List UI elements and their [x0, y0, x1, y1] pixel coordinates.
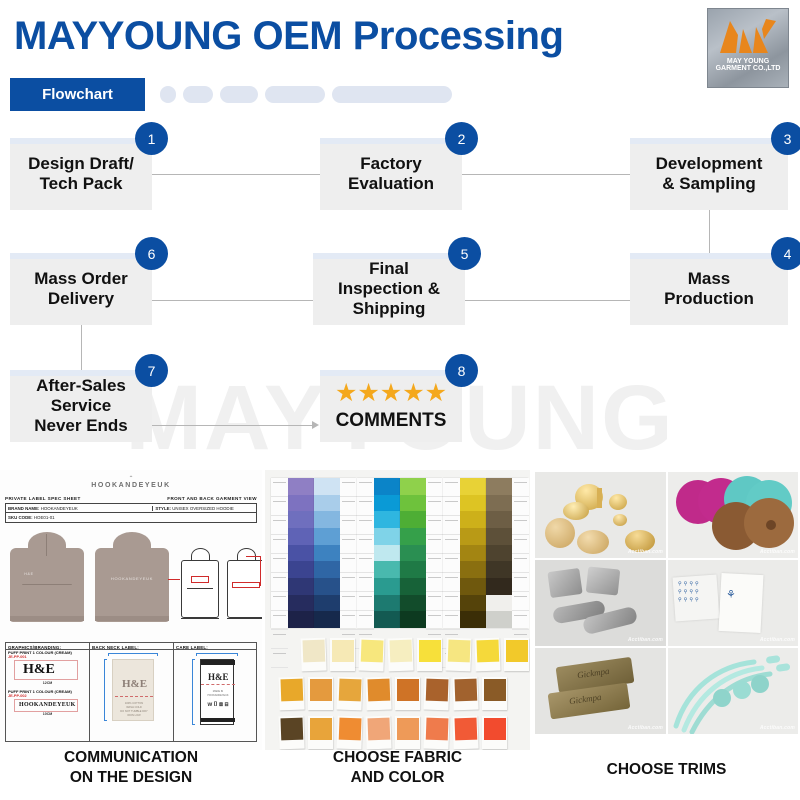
connector-3-4	[709, 210, 710, 253]
watermark-tag: Acctiban.com	[628, 637, 663, 643]
techpack-brandmark: ⌃ HOOKANDEYEUK	[0, 475, 262, 489]
techpack-field-style: STYLE: UNISEX OVERSIZED HOODIE	[153, 506, 256, 511]
swatch-cell	[288, 578, 314, 595]
techpack-brand-name: HOOKANDEYEUK	[0, 482, 262, 489]
swatch-cell	[288, 545, 314, 562]
decor-pill-3	[220, 86, 258, 103]
connector-7-8	[152, 425, 313, 426]
color-card-chip	[454, 717, 477, 740]
color-card-chip	[310, 679, 332, 701]
field-key: STYLE:	[155, 506, 171, 511]
techpack-header-left: PRIVATE LABEL SPEC SHEET	[5, 496, 81, 501]
swatch-cell	[400, 578, 426, 595]
reference-panels: ⌃ HOOKANDEYEUK PRIVATE LABEL SPEC SHEET …	[0, 470, 800, 755]
swatch-cell	[460, 611, 486, 628]
swatch-code-column	[340, 478, 357, 628]
swatch-color-strip	[288, 478, 314, 628]
col-heading: CARE LABEL:	[174, 643, 256, 650]
swatch-cell	[374, 578, 400, 595]
decor-pill-5	[332, 86, 452, 103]
page-title: MAYYOUNG OEM Processing	[14, 14, 563, 59]
swatch-cell	[314, 545, 340, 562]
flow-node-badge-8: 8	[445, 354, 478, 387]
swatch-cell	[400, 561, 426, 578]
node-top-bar	[10, 253, 152, 259]
infographic-page: MAYYOUNG MAYYOUNG OEM Processing MAY YOU…	[0, 0, 800, 800]
techpack-field-sku: SKU CODE: HOE01-01	[6, 515, 256, 520]
swatch-book-green	[400, 478, 442, 628]
panel-captions: COMMUNICATIONON THE DESIGNCHOOSE FABRICA…	[0, 748, 800, 800]
swatch-code-column	[426, 478, 443, 628]
techpack-info-table: BRAND NAME: HOOKANDEYEUK STYLE: UNISEX O…	[5, 503, 257, 523]
swatch-cell	[486, 578, 512, 595]
connector-1-2	[152, 174, 320, 175]
table-row: SKU CODE: HOE01-01	[6, 513, 256, 522]
swatch-cell	[374, 611, 400, 628]
color-card	[452, 677, 478, 711]
swatch-cell	[486, 511, 512, 528]
swatch-cell	[486, 611, 512, 628]
flow-node-label: MassProduction	[658, 269, 760, 309]
techpack-header-row: PRIVATE LABEL SPEC SHEET FRONT AND BACK …	[5, 496, 257, 501]
flow-node-badge-5: 5	[448, 237, 481, 270]
color-card	[330, 638, 355, 671]
swatch-cell	[486, 495, 512, 512]
connector-2-3	[462, 174, 630, 175]
swatch-cell	[314, 528, 340, 545]
color-card	[336, 677, 362, 711]
flow-node-badge-1: 1	[135, 122, 168, 155]
swatch-cell	[460, 561, 486, 578]
swatch-cell	[288, 561, 314, 578]
flow-node-5[interactable]: FinalInspection &Shipping	[313, 253, 465, 325]
color-card	[336, 716, 362, 750]
color-card	[308, 677, 333, 710]
color-card-chip	[360, 639, 383, 662]
swatch-cell	[460, 578, 486, 595]
swatch-cell	[460, 595, 486, 612]
color-card-chip	[425, 678, 448, 701]
flow-node-label: After-SalesServiceNever Ends	[28, 376, 134, 436]
flow-node-badge-3: 3	[771, 122, 800, 155]
swatch-cell	[374, 511, 400, 528]
color-card	[300, 638, 326, 672]
logo-text-line1: MAY YOUNG	[727, 58, 769, 65]
swatch-cell	[400, 545, 426, 562]
field-value: HOE01-01	[34, 515, 55, 520]
color-card	[417, 638, 442, 671]
decorative-pills	[160, 86, 452, 103]
flow-node-2[interactable]: FactoryEvaluation	[320, 138, 462, 210]
trim-zipper-pullers: Acctiban.com	[535, 560, 666, 646]
care-label-art: H&E	[208, 672, 229, 682]
graphic-art-2: HOOKANDEYEUK	[19, 702, 76, 708]
field-value: UNISEX OVERSIZED HOODIE	[172, 506, 233, 511]
connector-4-5	[465, 300, 630, 301]
flow-node-3[interactable]: Development& Sampling	[630, 138, 788, 210]
rating-stars: ★★★★★	[335, 381, 447, 406]
bird-icon: ⚘	[726, 588, 736, 601]
may-logo-icon	[716, 15, 780, 57]
field-value: HOOKANDEYEUK	[41, 506, 78, 511]
watermark-tag: Acctiban.com	[628, 549, 663, 555]
color-card	[423, 716, 449, 750]
color-card	[358, 638, 384, 672]
hoodie-back-render: HOOKANDEYEUK	[93, 532, 171, 628]
col-heading: BACK NECK LABEL:	[90, 643, 173, 650]
decor-pill-4	[265, 86, 325, 103]
swatch-cell	[288, 528, 314, 545]
color-card	[387, 638, 413, 672]
node-top-bar	[630, 138, 788, 144]
col-heading: GRAPHICS/BRANDING:	[6, 643, 89, 650]
swatch-book-brown	[486, 478, 528, 628]
swatch-cell	[486, 478, 512, 495]
swatch-cell	[486, 561, 512, 578]
swatch-cell	[314, 495, 340, 512]
header: MAYYOUNG OEM Processing MAY YOUNG GARMEN…	[0, 0, 800, 120]
swatch-cell	[288, 478, 314, 495]
flow-node-label: Design Draft/Tech Pack	[22, 154, 140, 194]
swatch-cell	[400, 611, 426, 628]
color-card	[365, 677, 391, 711]
color-card-chip	[367, 678, 390, 701]
flow-node-label: Development& Sampling	[650, 154, 769, 194]
color-card-chip	[454, 678, 477, 701]
neck-label-care-text: 100% COTTONWASH COLDDO NOT TUMBLE DRYIRO…	[115, 702, 153, 718]
care-label-symbols: w ⌷ ⊠ ⊟	[207, 702, 229, 709]
comments-label: COMMENTS	[335, 410, 447, 432]
swatch-code-column	[357, 478, 374, 628]
color-card-chip	[425, 717, 448, 740]
table-row: BRAND NAME: HOOKANDEYEUK STYLE: UNISEX O…	[6, 504, 256, 513]
flow-node-badge-7: 7	[135, 354, 168, 387]
hoodie-front-render: H&E	[8, 532, 86, 628]
trim-gold-snap-buttons: Acctiban.com	[535, 472, 666, 558]
swatch-book-cyan	[357, 478, 399, 628]
hoodie-back-print: HOOKANDEYEUK	[107, 576, 157, 581]
techpack-tick-icon: ⌃	[0, 475, 262, 482]
flow-node-badge-2: 2	[445, 122, 478, 155]
flow-node-label: FactoryEvaluation	[342, 154, 440, 194]
care-label-text: MADE INHOOKANDEYEUK	[203, 690, 233, 698]
swatch-cell	[400, 511, 426, 528]
swatch-cell	[400, 495, 426, 512]
neck-label-art: H&E	[122, 678, 147, 690]
node-top-bar	[630, 253, 788, 259]
graphic-code-1: JE-PP-001	[6, 655, 89, 659]
techpack-col-neck-label: BACK NECK LABEL: H&E 100% COTTONWASH COL…	[90, 643, 174, 741]
swatch-book-blue	[314, 478, 356, 628]
panel-caption-1: COMMUNICATIONON THE DESIGN	[0, 748, 262, 788]
swatch-cell	[374, 495, 400, 512]
swatch-color-strip	[460, 478, 486, 628]
swatch-book-yellow	[443, 478, 485, 628]
techpack-header-right: FRONT AND BACK GARMENT VIEW	[167, 496, 257, 501]
swatch-color-strip	[486, 478, 512, 628]
watermark-tag: Acctiban.com	[760, 637, 795, 643]
flow-node-label: Mass OrderDelivery	[28, 269, 134, 309]
swatch-cell	[314, 561, 340, 578]
swatch-cell	[288, 495, 314, 512]
color-card-chip	[367, 717, 390, 740]
flow-node-8[interactable]: ★★★★★COMMENTS	[320, 370, 462, 442]
connector-5-6	[152, 300, 313, 301]
color-card-chip	[389, 639, 412, 662]
panel-caption-3: CHOOSE TRIMS	[533, 760, 800, 780]
watermark-tag: Acctiban.com	[628, 725, 663, 731]
flow-node-label: FinalInspection &Shipping	[332, 259, 446, 319]
color-card-chip	[338, 678, 361, 701]
swatch-cell	[460, 528, 486, 545]
techpack-col-care-label: CARE LABEL: H&E MADE INHOOKANDEYEUK w ⌷ …	[174, 643, 256, 741]
flow-node-1[interactable]: Design Draft/Tech Pack	[10, 138, 152, 210]
neck-label-swatch: H&E 100% COTTONWASH COLDDO NOT TUMBLE DR…	[112, 659, 154, 721]
color-card	[278, 677, 304, 711]
flow-node-6[interactable]: Mass OrderDelivery	[10, 253, 152, 325]
color-card-chip	[506, 640, 528, 662]
color-card	[395, 677, 420, 710]
color-card-chip	[419, 640, 441, 662]
color-card-chip	[310, 718, 332, 740]
flowchart-badge: Flowchart	[10, 78, 145, 111]
swatch-color-strip	[400, 478, 426, 628]
panel-caption-2: CHOOSE FABRICAND COLOR	[265, 748, 530, 788]
color-card	[504, 638, 529, 671]
trim-leather-discs: Acctiban.com	[668, 472, 798, 558]
flow-node-badge-6: 6	[135, 237, 168, 270]
watermark-tag: Acctiban.com	[760, 725, 795, 731]
color-card	[308, 716, 333, 749]
drawcord-illustration	[668, 648, 798, 734]
flow-node-4[interactable]: MassProduction	[630, 253, 788, 325]
connector-6-7	[81, 325, 82, 370]
swatch-cell	[400, 478, 426, 495]
swatch-cell	[460, 511, 486, 528]
color-card	[474, 638, 500, 672]
swatch-cell	[374, 545, 400, 562]
node-top-bar	[320, 138, 462, 144]
color-card	[445, 638, 471, 672]
decor-pill-1	[160, 86, 176, 103]
logo-text-line2: GARMENT CO.,LTD	[716, 65, 781, 72]
color-card-chip	[484, 679, 506, 701]
color-card-chip	[332, 640, 354, 662]
swatch-cell	[314, 478, 340, 495]
swatch-cell	[288, 611, 314, 628]
color-card	[482, 716, 507, 749]
panel-trims: Acctiban.com Acctiban.com	[533, 470, 800, 750]
graphic-code-2: JE-PP-002	[6, 694, 89, 698]
care-label-swatch: H&E MADE INHOOKANDEYEUK w ⌷ ⊠ ⊟	[200, 659, 234, 725]
color-card-chip	[476, 639, 499, 662]
swatch-cell	[460, 545, 486, 562]
techpack-col-graphics: GRAPHICS/BRANDING: PUFF PRINT 1 COLOUR (…	[6, 643, 90, 741]
swatch-cell	[486, 528, 512, 545]
swatch-code-column	[443, 478, 460, 628]
swatch-cell	[400, 595, 426, 612]
techpack-detail-columns: GRAPHICS/BRANDING: PUFF PRINT 1 COLOUR (…	[5, 642, 257, 742]
trim-drawcords: Acctiban.com	[668, 648, 798, 734]
swatch-cell	[288, 511, 314, 528]
color-card	[365, 716, 391, 750]
swatch-cell	[460, 478, 486, 495]
graphic-size-2: 10CM	[6, 712, 89, 716]
swatch-cell	[314, 595, 340, 612]
swatch-book-purple	[271, 478, 313, 628]
panel-fabric-color	[265, 470, 530, 750]
color-card	[482, 677, 507, 710]
color-card	[452, 716, 478, 750]
hoodie-outline-front	[180, 548, 220, 628]
techpack-garment-views: H&E HOOKANDEYEUK	[0, 526, 262, 636]
node-top-bar	[10, 138, 152, 144]
swatch-cell	[374, 561, 400, 578]
color-card-chip	[302, 639, 325, 662]
panel-tech-pack: ⌃ HOOKANDEYEUK PRIVATE LABEL SPEC SHEET …	[0, 470, 262, 750]
color-card-chip	[447, 639, 470, 662]
graphic-size-1: 12CM	[6, 681, 89, 685]
swatch-cell	[288, 595, 314, 612]
swatch-color-strip	[374, 478, 400, 628]
color-card	[278, 716, 304, 750]
trim-metal-plates: Gickmpa Gickmpa Acctiban.com	[535, 648, 666, 734]
node-top-bar	[320, 370, 462, 376]
swatch-cell	[460, 495, 486, 512]
hoodie-outline-back	[226, 548, 262, 628]
swatch-cell	[314, 511, 340, 528]
swatch-cell	[374, 478, 400, 495]
company-logo: MAY YOUNG GARMENT CO.,LTD	[707, 8, 789, 88]
color-card-chip	[280, 717, 303, 740]
swatch-code-column	[271, 478, 288, 628]
trim-hang-tags: ⚘ ⚲⚲⚲⚲⚲⚲⚲⚲⚲⚲⚲⚲ Acctiban.com	[668, 560, 798, 646]
color-card-chip	[397, 718, 419, 740]
swatch-cell	[486, 545, 512, 562]
pin-grid-icon: ⚲⚲⚲⚲⚲⚲⚲⚲⚲⚲⚲⚲	[678, 580, 716, 614]
color-card	[395, 716, 420, 749]
color-card-chip	[484, 718, 506, 740]
graphic-art-1: H&E	[23, 662, 55, 678]
decor-pill-2	[183, 86, 213, 103]
field-key: SKU CODE:	[8, 515, 33, 520]
swatch-cell	[400, 528, 426, 545]
flow-node-7[interactable]: After-SalesServiceNever Ends	[10, 370, 152, 442]
swatch-cell	[486, 595, 512, 612]
swatch-code-column	[512, 478, 529, 628]
color-card-chip	[397, 679, 419, 701]
color-card	[423, 677, 449, 711]
swatch-cell	[374, 595, 400, 612]
techpack-field-brand: BRAND NAME: HOOKANDEYEUK	[6, 506, 153, 511]
swatch-cell	[314, 611, 340, 628]
swatch-color-strip	[314, 478, 340, 628]
connector-7-8-arrowhead	[312, 421, 319, 429]
swatch-cell	[374, 528, 400, 545]
color-card-chip	[280, 678, 303, 701]
color-card-chip	[338, 717, 361, 740]
field-key: BRAND NAME:	[8, 506, 39, 511]
swatch-cell	[314, 578, 340, 595]
watermark-tag: Acctiban.com	[760, 549, 795, 555]
hoodie-front-print: H&E	[18, 572, 40, 576]
flow-node-badge-4: 4	[771, 237, 800, 270]
